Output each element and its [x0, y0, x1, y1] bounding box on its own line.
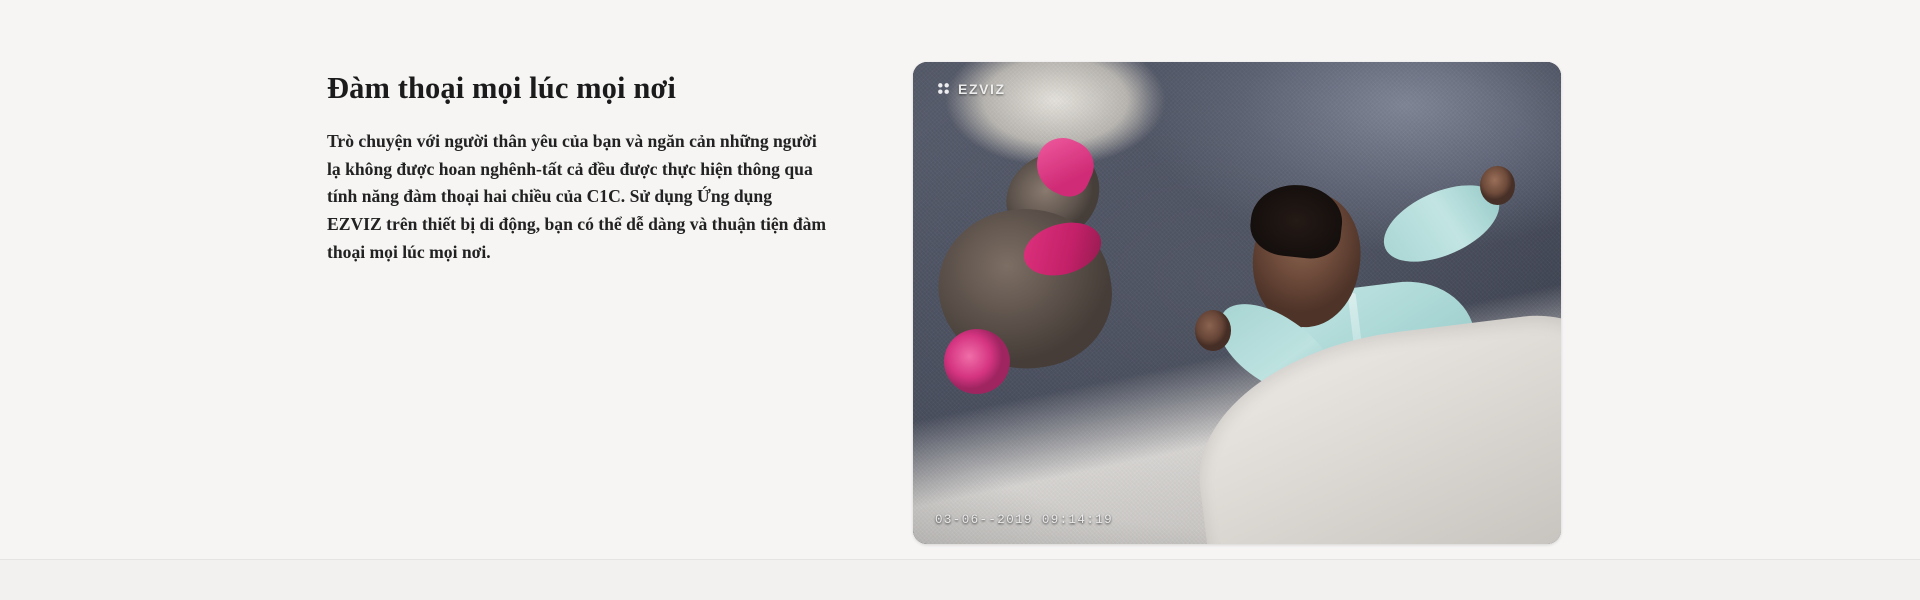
feature-section: Đàm thoại mọi lúc mọi nơi Trò chuyện với…	[0, 0, 1920, 559]
page-title: Đàm thoại mọi lúc mọi nơi	[327, 70, 835, 108]
page-bottom-strip	[0, 559, 1920, 600]
feature-description: Trò chuyện với người thân yêu của bạn và…	[327, 128, 827, 267]
camera-snapshot-card: EZVIZ 03-06--2019 09:14:19	[913, 62, 1561, 544]
snapshot-timestamp: 03-06--2019 09:14:19	[935, 513, 1113, 527]
ezviz-logo: EZVIZ	[935, 80, 1006, 97]
page-root: Đàm thoại mọi lúc mọi nơi Trò chuyện với…	[0, 0, 1920, 600]
feature-copy-column: Đàm thoại mọi lúc mọi nơi Trò chuyện với…	[327, 70, 835, 267]
ezviz-logo-text: EZVIZ	[958, 81, 1006, 97]
baby-right-fist	[1480, 166, 1515, 206]
baby-left-fist	[1195, 310, 1231, 351]
camera-snapshot-image	[913, 62, 1561, 544]
ezviz-flower-icon	[935, 80, 952, 97]
